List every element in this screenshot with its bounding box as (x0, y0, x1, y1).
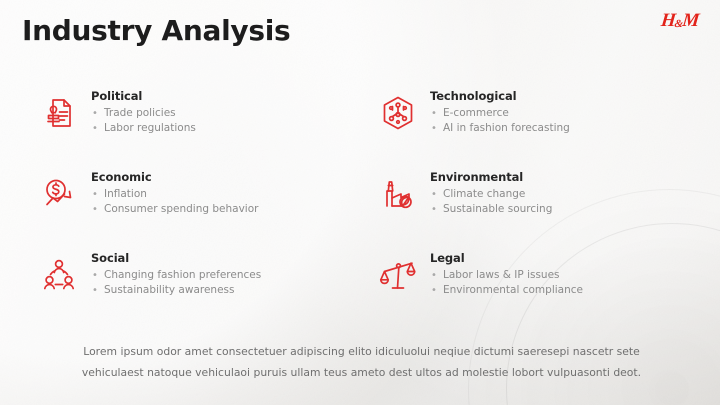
footer-line-1: Lorem ipsum odor amet consectetuer adipi… (55, 341, 668, 362)
section-title: Legal (430, 251, 583, 265)
section-bullets: Climate change Sustainable sourcing (430, 187, 552, 217)
section-political: Political Trade policies Labor regulatio… (38, 88, 349, 169)
footer-line-2: vehiculaest natoque vehiculaoi puruis ul… (55, 362, 668, 383)
section-body: Political Trade policies Labor regulatio… (91, 88, 196, 136)
bullet-item: Labor laws & IP issues (430, 268, 583, 283)
section-title: Technological (430, 89, 570, 103)
bullet-item: AI in fashion forecasting (430, 121, 570, 136)
slide-canvas: Industry Analysis H&M Political Trade po… (0, 0, 720, 405)
dollar-growth-arrow-icon (38, 173, 80, 215)
page-title: Industry Analysis (22, 14, 290, 47)
section-legal: Legal Labor laws & IP issues Environment… (377, 250, 688, 331)
section-title: Economic (91, 170, 258, 184)
section-bullets: E-commerce AI in fashion forecasting (430, 106, 570, 136)
bullet-item: Consumer spending behavior (91, 202, 258, 217)
section-title: Environmental (430, 170, 552, 184)
section-environmental: Environmental Climate change Sustainable… (377, 169, 688, 250)
bullet-item: E-commerce (430, 106, 570, 121)
section-bullets: Inflation Consumer spending behavior (91, 187, 258, 217)
bullet-item: Labor regulations (91, 121, 196, 136)
section-bullets: Changing fashion preferences Sustainabil… (91, 268, 261, 298)
section-technological: Technological E-commerce AI in fashion f… (377, 88, 688, 169)
section-economic: Economic Inflation Consumer spending beh… (38, 169, 349, 250)
footer-paragraph: Lorem ipsum odor amet consectetuer adipi… (55, 341, 668, 383)
bullet-item: Sustainability awareness (91, 283, 261, 298)
section-body: Legal Labor laws & IP issues Environment… (430, 250, 583, 298)
hexagon-network-icon (377, 92, 419, 134)
bullet-item: Inflation (91, 187, 258, 202)
bullet-item: Trade policies (91, 106, 196, 121)
document-stamp-icon (38, 92, 80, 134)
bullet-item: Changing fashion preferences (91, 268, 261, 283)
bullet-item: Sustainable sourcing (430, 202, 552, 217)
section-bullets: Trade policies Labor regulations (91, 106, 196, 136)
section-body: Environmental Climate change Sustainable… (430, 169, 552, 217)
section-title: Political (91, 89, 196, 103)
section-title: Social (91, 251, 261, 265)
section-bullets: Labor laws & IP issues Environmental com… (430, 268, 583, 298)
factory-leaf-icon (377, 173, 419, 215)
section-body: Social Changing fashion preferences Sust… (91, 250, 261, 298)
section-social: Social Changing fashion preferences Sust… (38, 250, 349, 331)
section-body: Technological E-commerce AI in fashion f… (430, 88, 570, 136)
bullet-item: Climate change (430, 187, 552, 202)
scales-of-justice-icon (377, 254, 419, 296)
people-network-icon (38, 254, 80, 296)
pestle-grid: Political Trade policies Labor regulatio… (38, 88, 688, 331)
section-body: Economic Inflation Consumer spending beh… (91, 169, 258, 217)
bullet-item: Environmental compliance (430, 283, 583, 298)
hm-logo: H&M (660, 10, 700, 32)
